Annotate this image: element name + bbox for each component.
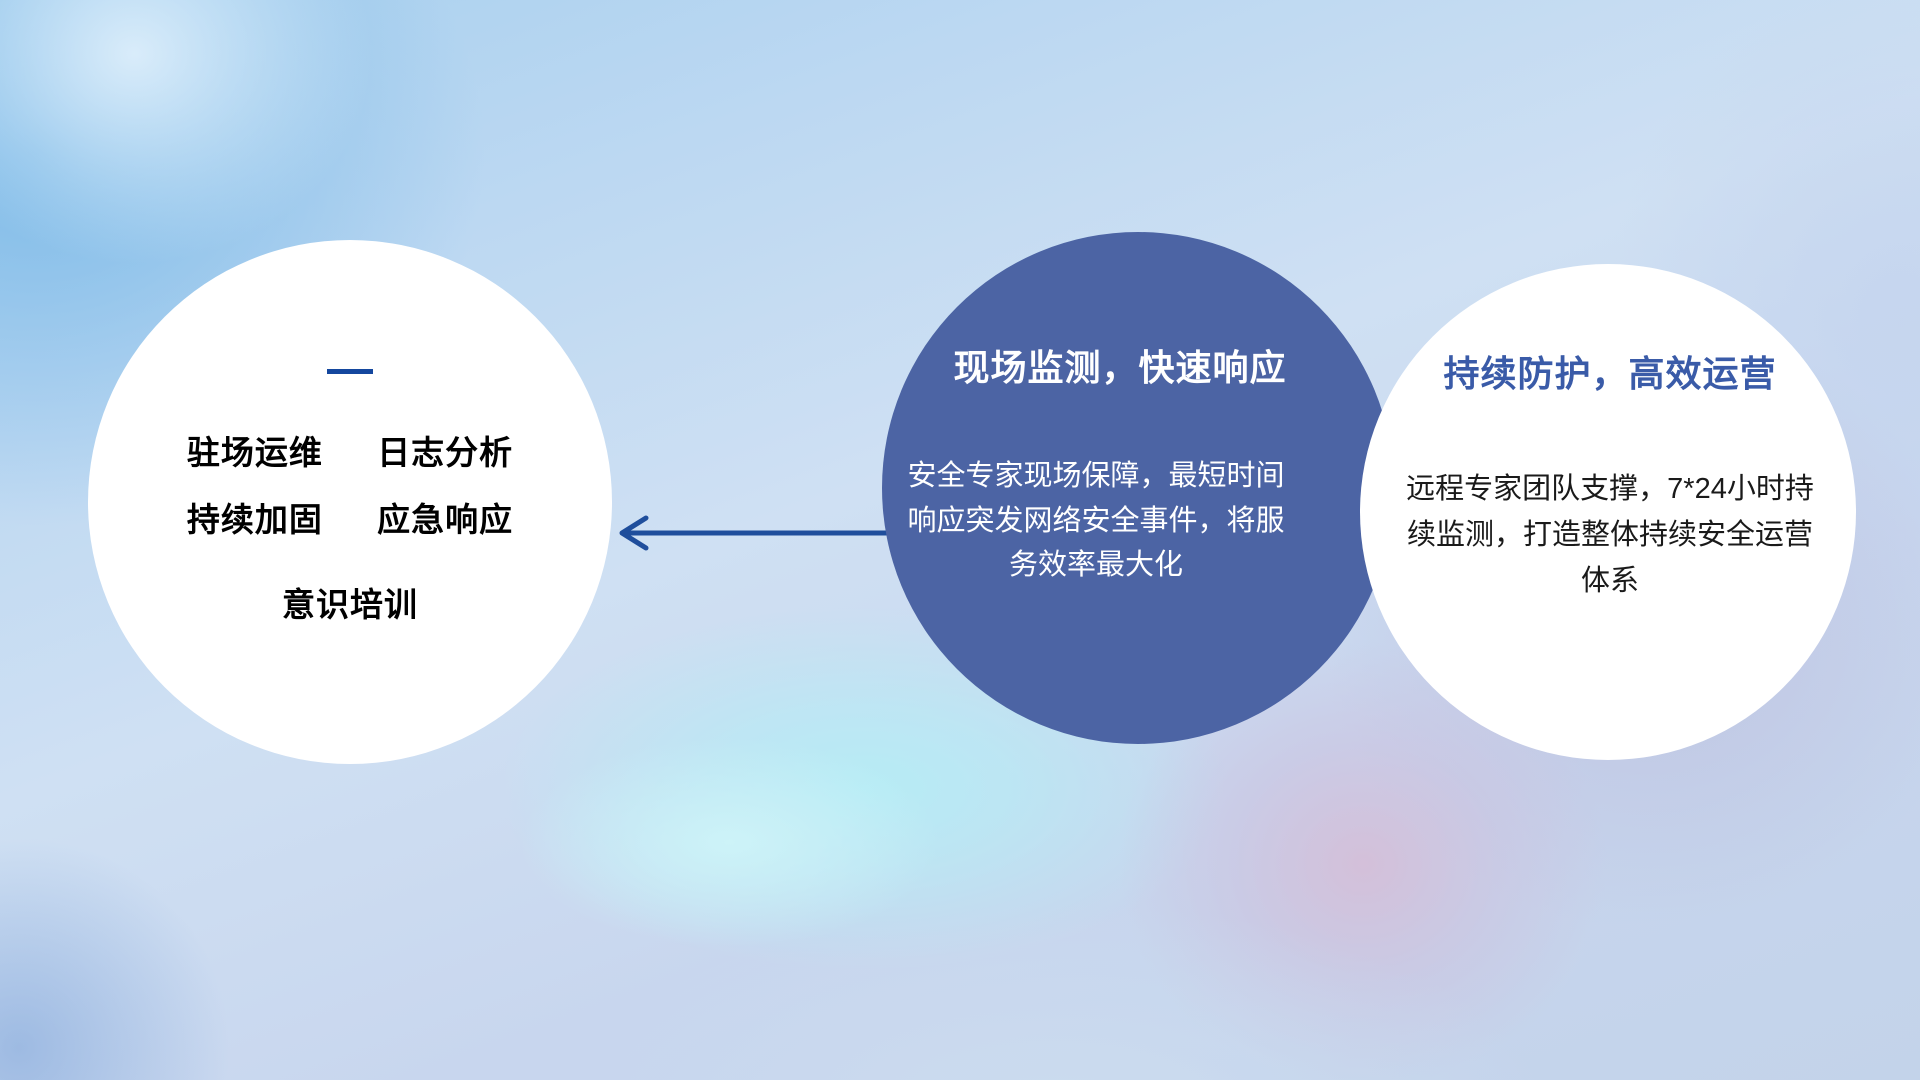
keyword-label: 日志分析 <box>377 434 513 471</box>
keyword-label: 驻场运维 <box>187 434 323 471</box>
middle-onsite-circle[interactable] <box>882 232 1394 744</box>
right-circle-text: 持续防护，高效运营 远程专家团队支撑，7*24小时持续监测，打造整体持续安全运营… <box>1392 354 1828 605</box>
keyword-row: 持续加固 应急响应 <box>187 503 513 536</box>
right-circle-body: 远程专家团队支撑，7*24小时持续监测，打造整体持续安全运营体系 <box>1400 466 1820 605</box>
left-circle-content: 驻场运维 日志分析 持续加固 应急响应 意识培训 <box>88 369 612 635</box>
flow-arrow-icon <box>600 515 900 551</box>
left-capability-circle[interactable]: 驻场运维 日志分析 持续加固 应急响应 意识培训 <box>88 240 612 764</box>
right-circle-title: 持续防护，高效运营 <box>1392 354 1828 394</box>
slide-canvas: 驻场运维 日志分析 持续加固 应急响应 意识培训 现场监测，快速响应 安全专家现… <box>0 0 1920 1080</box>
keyword-label-last: 意识培训 <box>282 588 418 621</box>
keyword-label: 应急响应 <box>377 501 513 538</box>
keyword-row: 驻场运维 日志分析 <box>187 436 513 469</box>
divider-dash-icon <box>327 369 373 374</box>
keyword-label: 持续加固 <box>187 501 323 538</box>
